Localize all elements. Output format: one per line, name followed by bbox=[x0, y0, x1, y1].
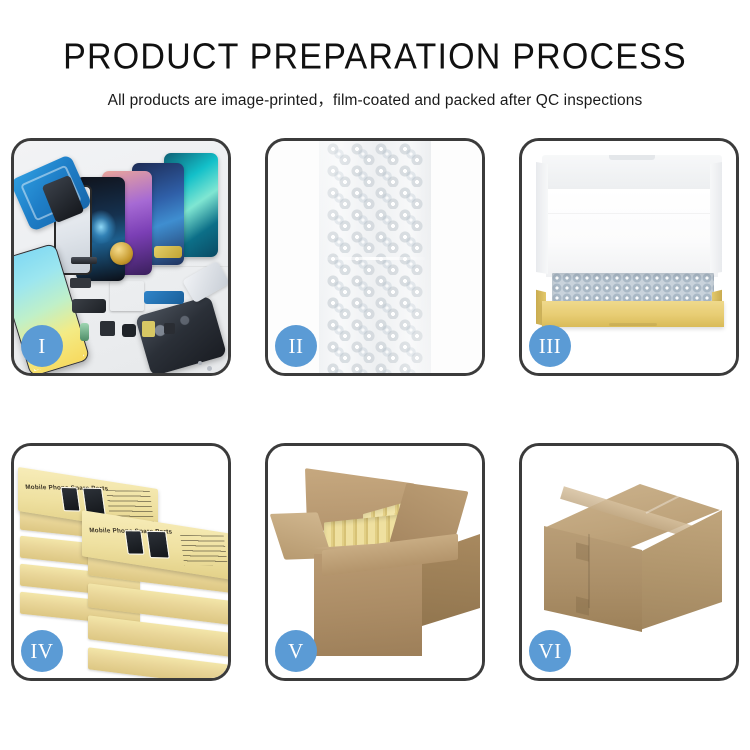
small-part-4 bbox=[164, 323, 175, 334]
page-title: PRODUCT PREPARATION PROCESS bbox=[0, 37, 750, 78]
connector-board-part bbox=[110, 281, 144, 311]
box-inner-right-wall bbox=[710, 162, 722, 274]
process-step-panel-2[interactable]: II bbox=[265, 138, 485, 376]
flex-cable-part-2 bbox=[144, 291, 184, 304]
product-preparation-page: PRODUCT PREPARATION PROCESS All products… bbox=[0, 0, 750, 750]
process-step-panel-4[interactable]: Mobile Phone Spare Parts Mobile Phone Sp… bbox=[11, 443, 231, 681]
small-part-3 bbox=[142, 321, 155, 337]
box-front-panel bbox=[542, 301, 724, 327]
speaker-coil-part bbox=[110, 242, 133, 265]
bar-part bbox=[71, 257, 97, 264]
page-subtitle: All products are image-printed，film-coat… bbox=[0, 88, 750, 110]
camera-module-part bbox=[80, 323, 89, 341]
flex-cable-part-3 bbox=[154, 246, 182, 258]
page-header: PRODUCT PREPARATION PROCESS All products… bbox=[0, 0, 750, 110]
step-badge-6: VI bbox=[529, 630, 571, 672]
step-badge-5: V bbox=[275, 630, 317, 672]
box-inner-white bbox=[546, 189, 718, 277]
plastic-gloss bbox=[319, 141, 431, 373]
small-part-1 bbox=[100, 321, 115, 336]
box-window-rear-1 bbox=[60, 487, 80, 512]
box-inner-left-wall bbox=[536, 162, 548, 274]
box-lid-back bbox=[542, 155, 722, 191]
speaker-part bbox=[70, 278, 91, 288]
process-step-panel-1[interactable]: I bbox=[11, 138, 231, 376]
step-badge-3: III bbox=[529, 325, 571, 367]
step-badge-4: IV bbox=[21, 630, 63, 672]
process-step-panel-3[interactable]: III bbox=[519, 138, 739, 376]
sealed-carton-tab-2 bbox=[576, 596, 589, 615]
step-badge-2: II bbox=[275, 325, 317, 367]
process-step-panel-5[interactable]: V bbox=[265, 443, 485, 681]
box-window-front-2 bbox=[146, 531, 170, 559]
process-step-panel-6[interactable]: VI bbox=[519, 443, 739, 681]
screw-part-1 bbox=[207, 366, 212, 371]
small-part-2 bbox=[122, 324, 136, 337]
process-step-grid: I II bbox=[11, 138, 739, 681]
bubble-wrapped-contents bbox=[552, 273, 714, 303]
box-spec-lines-front bbox=[180, 535, 228, 566]
flex-cable-part-1 bbox=[72, 299, 106, 313]
screw-part-2 bbox=[198, 361, 202, 365]
step-badge-1: I bbox=[21, 325, 63, 367]
box-window-front-1 bbox=[124, 530, 144, 555]
sealed-carton-tab-1 bbox=[576, 542, 589, 561]
